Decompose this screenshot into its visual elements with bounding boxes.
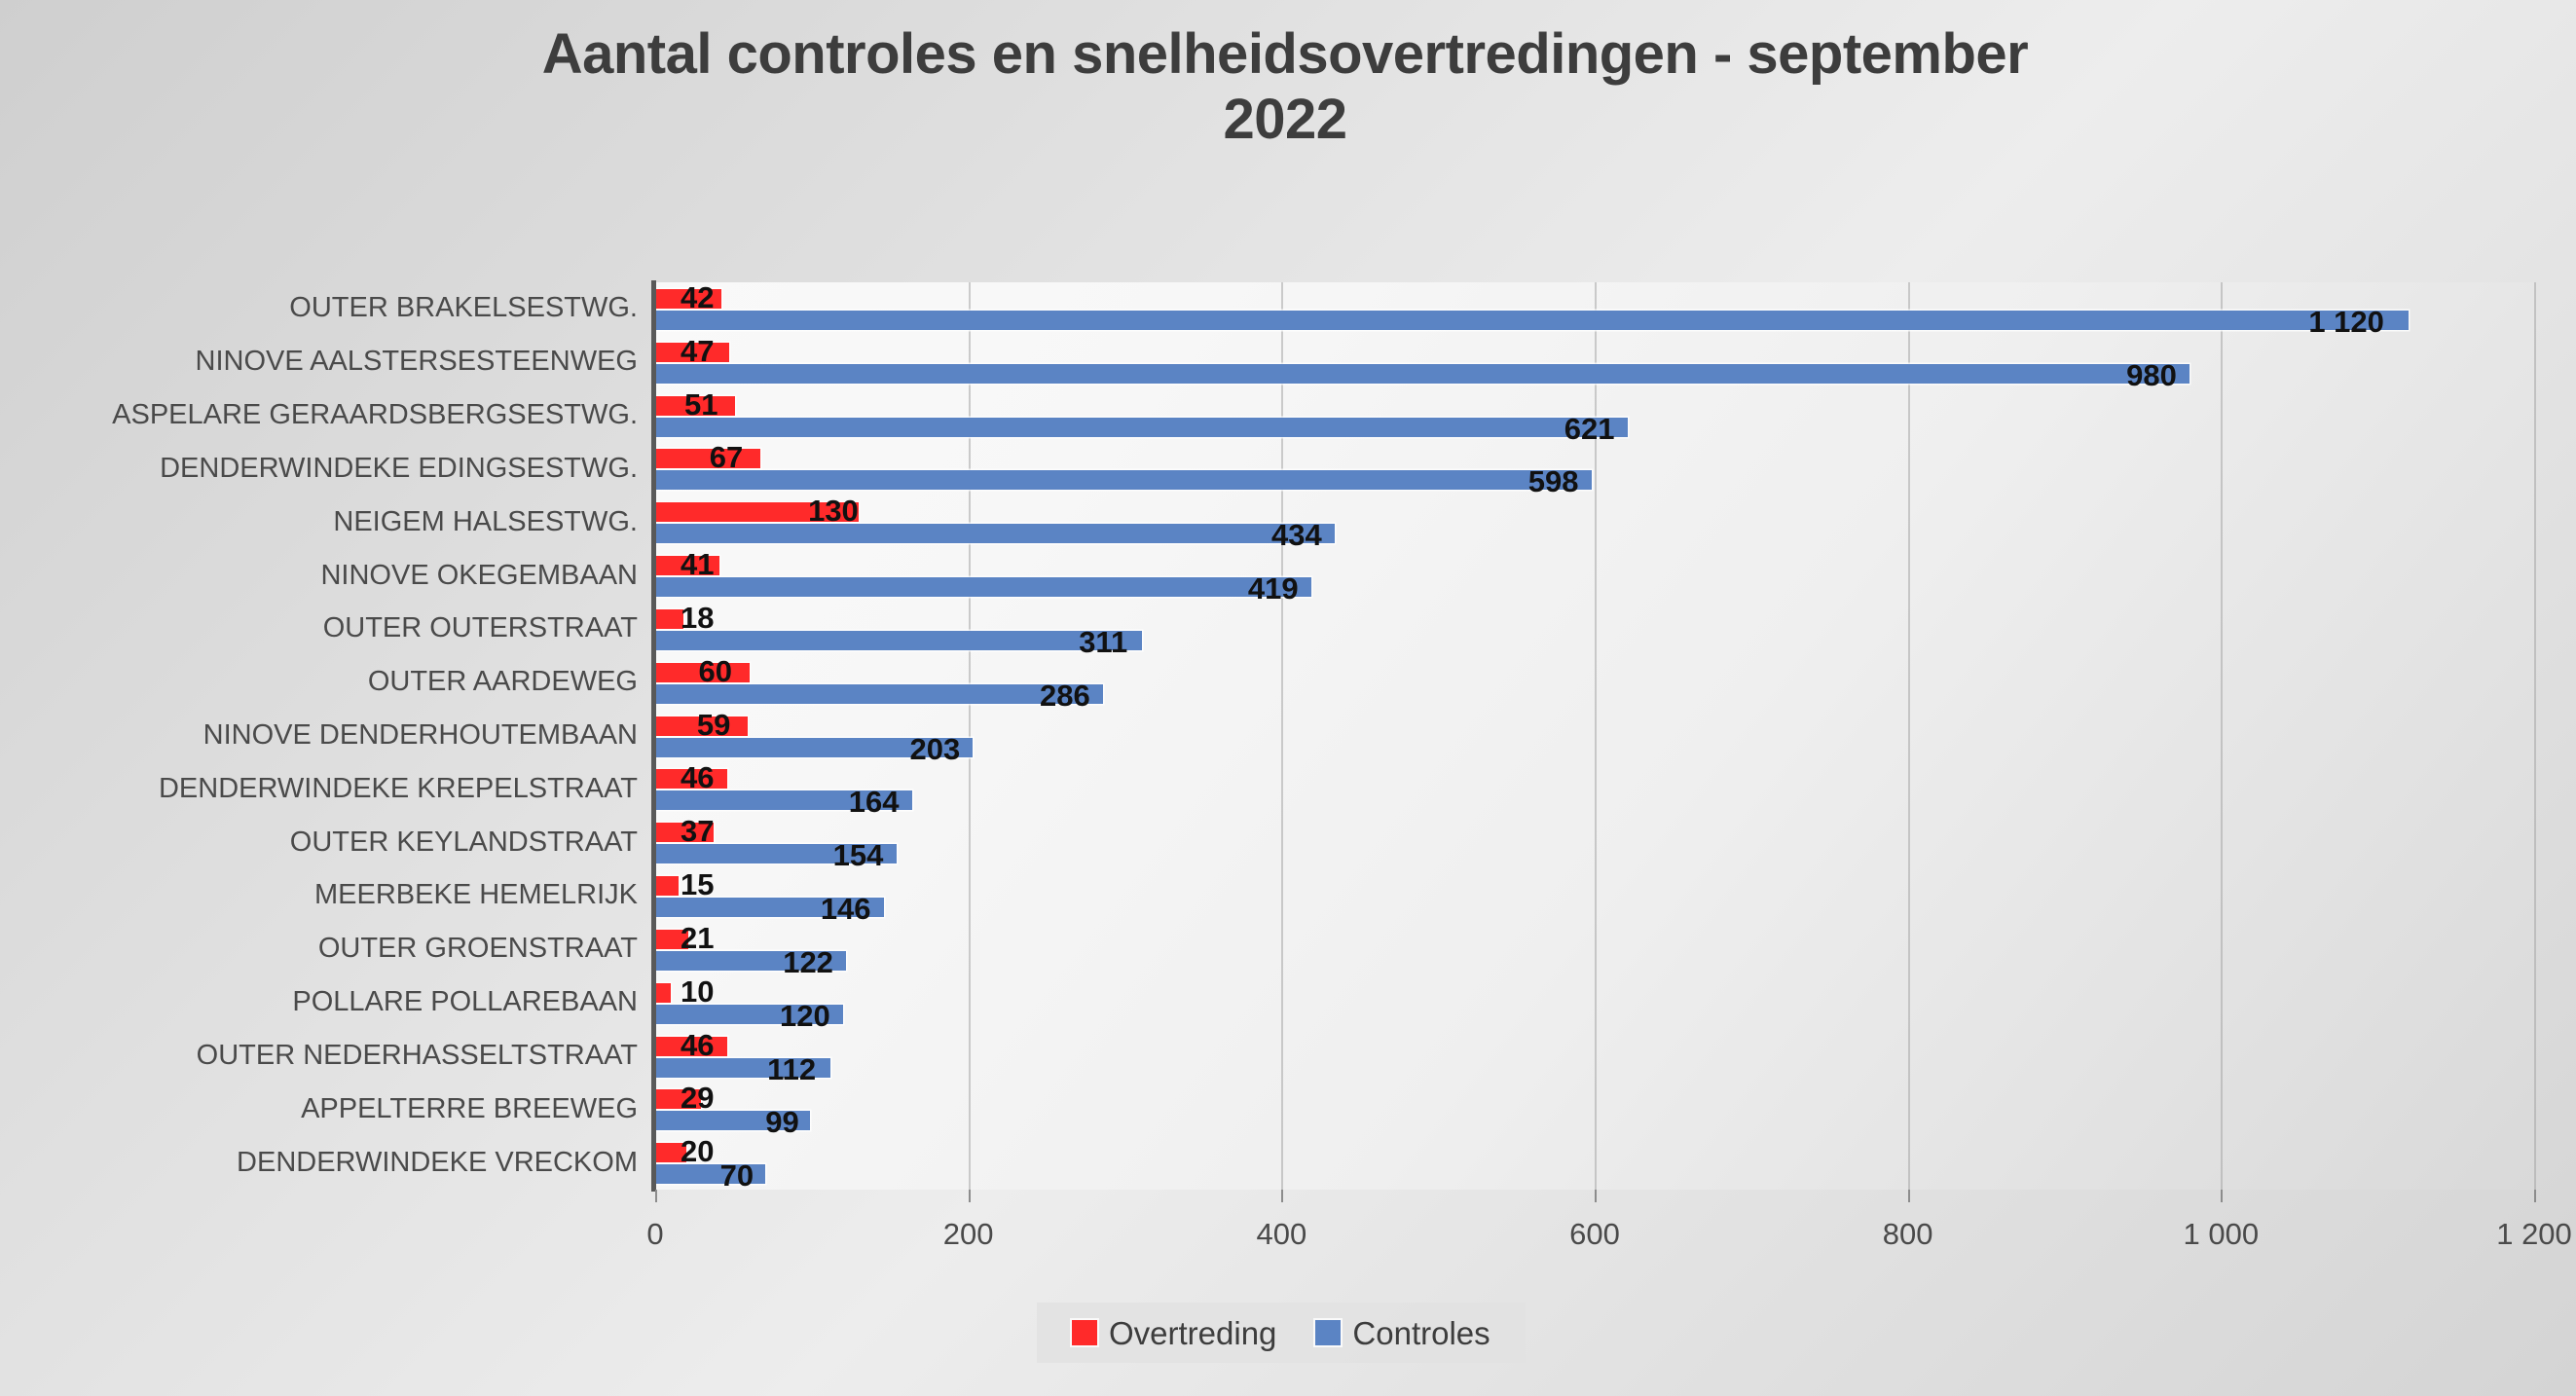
bar-row: 51621 [655,389,2534,443]
bar-row: 59203 [655,710,2534,763]
bar-row: 2070 [655,1136,2534,1190]
bar-value-label-controles: 122 [783,947,833,977]
bar-value-label-controles: 203 [909,734,960,764]
bar-value-label-controles: 1 120 [2308,307,2384,337]
y-axis-label: OUTER AARDEWEG [15,668,638,696]
bar-value-label-controles: 70 [720,1160,754,1191]
bar-value-label-controles: 419 [1248,573,1299,604]
bar-value-label-overtreding: 18 [681,603,714,633]
y-axis-label: NINOVE AALSTERSESTEENWEG [15,348,638,376]
bar-row: 37154 [655,816,2534,869]
bar-value-label-overtreding: 130 [808,496,859,526]
bar-row: 10120 [655,976,2534,1030]
bar-overtreding[interactable] [655,609,683,629]
bar-value-label-controles: 980 [2126,360,2177,390]
y-axis-label: MEERBEKE HEMELRIJK [15,881,638,909]
bar-row: 46164 [655,762,2534,816]
x-tick-mark [2221,1190,2223,1202]
bar-value-label-overtreding: 47 [681,336,714,366]
y-axis-label: DENDERWINDEKE VRECKOM [15,1149,638,1177]
x-tick-label: 0 [646,1219,663,1249]
chart-legend[interactable]: OvertredingControles [1037,1303,1526,1363]
bar-value-label-controles: 154 [833,840,884,870]
legend-label: Overtreding [1109,1317,1276,1349]
chart-title-line-1: Aantal controles en snelheidsovertreding… [331,21,2239,87]
bar-value-label-overtreding: 37 [681,816,714,846]
chart-container: Aantal controles en snelheidsovertreding… [0,0,2576,1396]
bar-controles[interactable] [655,418,1628,437]
bar-controles[interactable] [655,524,1335,543]
x-tick-label: 800 [1883,1219,1933,1249]
bar-value-label-controles: 286 [1040,680,1090,711]
gridline-1200 [2534,282,2536,1190]
y-axis-label: NINOVE OKEGEMBAAN [15,562,638,590]
bar-value-label-overtreding: 46 [681,762,714,792]
bar-value-label-overtreding: 10 [681,976,714,1007]
bar-row: 67598 [655,442,2534,496]
y-axis-label: OUTER GROENSTRAAT [15,935,638,963]
bar-value-label-controles: 598 [1528,466,1579,496]
x-tick-label: 400 [1256,1219,1306,1249]
x-tick-mark [1595,1190,1597,1202]
x-tick-label: 1 200 [2496,1219,2572,1249]
bar-overtreding[interactable] [655,876,679,896]
legend-label: Controles [1352,1317,1490,1349]
bar-controles[interactable] [655,311,2409,330]
bar-value-label-controles: 99 [765,1107,798,1137]
chart-title: Aantal controles en snelheidsovertreding… [331,21,2239,153]
bar-value-label-overtreding: 15 [681,869,714,900]
bar-value-label-controles: 120 [780,1001,830,1031]
x-tick-label: 600 [1569,1219,1620,1249]
bar-value-label-overtreding: 59 [697,710,730,740]
bar-row: 18311 [655,603,2534,656]
y-axis-label: OUTER BRAKELSESTWG. [15,294,638,322]
bar-row: 41419 [655,549,2534,603]
bar-controles[interactable] [655,364,2190,384]
y-axis-label: DENDERWINDEKE KREPELSTRAAT [15,775,638,803]
y-axis-label: DENDERWINDEKE EDINGSESTWG. [15,455,638,483]
bar-row: 46112 [655,1030,2534,1084]
x-tick-mark [1908,1190,1910,1202]
chart-title-line-2: 2022 [331,87,2239,152]
bar-value-label-controles: 621 [1564,414,1615,444]
y-axis-label: NINOVE DENDERHOUTEMBAAN [15,721,638,750]
plot-area: 421 120479805162167598130434414191831160… [655,282,2534,1190]
y-axis-label: OUTER NEDERHASSELTSTRAAT [15,1042,638,1070]
bar-controles[interactable] [655,470,1592,490]
bar-value-label-overtreding: 46 [681,1030,714,1060]
bar-controles[interactable] [655,631,1142,650]
y-axis-category-labels: OUTER BRAKELSESTWG.NINOVE AALSTERSESTEEN… [0,282,638,1190]
bar-row: 15146 [655,869,2534,923]
bar-controles[interactable] [655,577,1311,597]
bar-row: 130434 [655,496,2534,549]
bar-value-label-controles: 311 [1079,627,1127,657]
y-axis-label: NEIGEM HALSESTWG. [15,508,638,536]
y-axis-label: APPELTERRE BREEWEG [15,1095,638,1123]
bar-value-label-controles: 112 [767,1054,816,1084]
bar-row: 2999 [655,1083,2534,1136]
bar-row: 21122 [655,923,2534,976]
bar-row: 421 120 [655,282,2534,336]
legend-swatch-icon [1315,1320,1341,1345]
y-axis-label: ASPELARE GERAARDSBERGSESTWG. [15,401,638,429]
x-tick-mark [655,1190,657,1202]
bar-value-label-overtreding: 42 [681,282,714,312]
y-axis-label: POLLARE POLLAREBAAN [15,988,638,1016]
bar-value-label-overtreding: 60 [699,656,732,686]
legend-item[interactable]: Overtreding [1072,1317,1276,1349]
y-axis-label: OUTER KEYLANDSTRAAT [15,828,638,857]
bar-row: 60286 [655,656,2534,710]
bar-overtreding[interactable] [655,449,760,468]
x-tick-mark [1281,1190,1283,1202]
x-tick-mark [2534,1190,2536,1202]
y-axis-label: OUTER OUTERSTRAAT [15,614,638,643]
legend-swatch-icon [1072,1320,1097,1345]
bar-row: 47980 [655,336,2534,389]
bar-value-label-overtreding: 21 [681,923,714,953]
legend-item[interactable]: Controles [1315,1317,1490,1349]
bar-value-label-overtreding: 51 [684,389,718,420]
bar-value-label-controles: 146 [821,894,871,924]
bar-value-label-overtreding: 29 [681,1083,714,1113]
bar-value-label-overtreding: 20 [681,1136,714,1166]
bar-value-label-controles: 434 [1271,520,1322,550]
x-tick-mark [969,1190,971,1202]
bar-overtreding[interactable] [655,983,671,1003]
bar-value-label-overtreding: 67 [710,442,743,472]
bar-value-label-overtreding: 41 [681,549,714,579]
y-axis-line [651,280,656,1192]
bar-value-label-controles: 164 [849,787,900,817]
x-axis: 02004006008001 0001 200 [655,1190,2534,1267]
x-tick-label: 1 000 [2184,1219,2260,1249]
x-tick-label: 200 [943,1219,994,1249]
